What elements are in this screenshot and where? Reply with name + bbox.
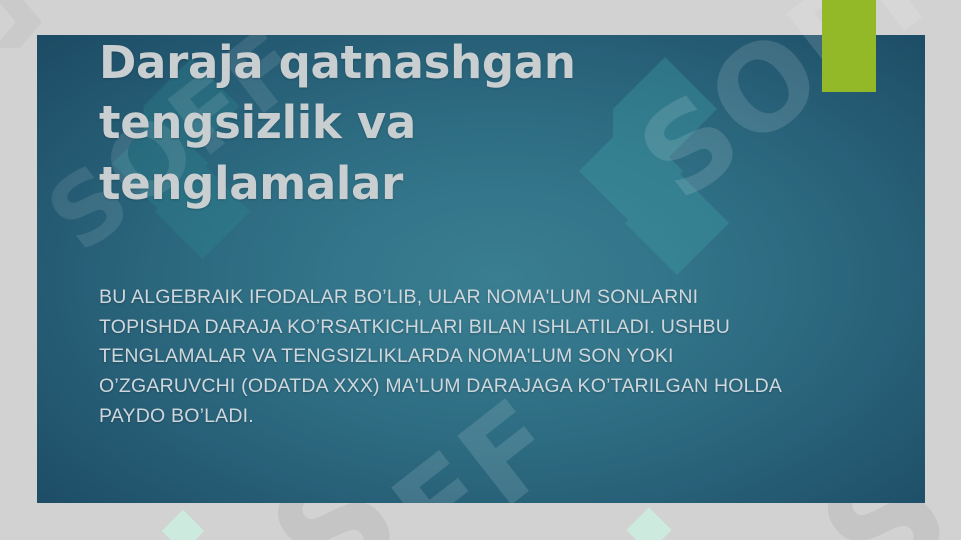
body-paragraph: BU ALGEBRAIK IFODALAR BO’LIB, ULAR NOMA'…	[99, 283, 799, 431]
slide-stage: S S SOFF SOFF	[0, 0, 961, 540]
page-title: Daraja qatnashgan tengsizlik va tenglama…	[99, 35, 699, 214]
green-accent-bar	[822, 0, 876, 92]
body-block: BU ALGEBRAIK IFODALAR BO’LIB, ULAR NOMA'…	[99, 283, 799, 431]
mint-diamond-decor	[162, 510, 204, 540]
mint-diamond-decor	[626, 507, 671, 540]
slide-canvas: SOFF SOFF Daraja qatnashgan tengsizlik v…	[37, 35, 925, 503]
title-block: Daraja qatnashgan tengsizlik va tenglama…	[99, 35, 699, 214]
